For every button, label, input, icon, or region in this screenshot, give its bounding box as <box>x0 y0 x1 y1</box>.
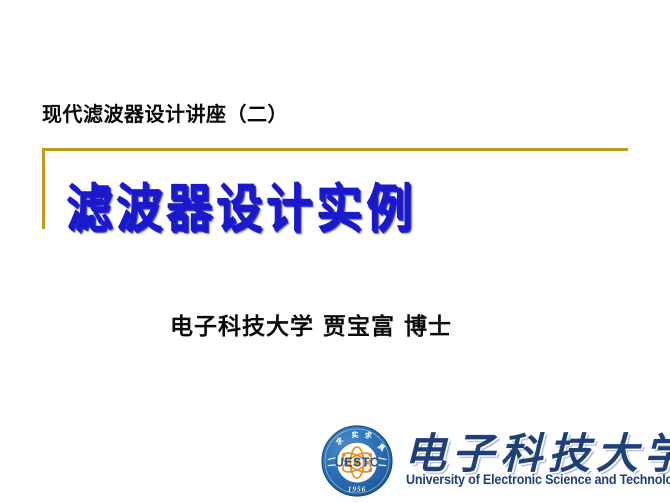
gold-rule-vertical <box>42 148 45 229</box>
slide-canvas: 现代滤波器设计讲座（二） 滤波器设计实例 电子科技大学 贾宝富 博士 <box>0 0 670 503</box>
uestc-logo: UESTC 求 实 求 真 1956 电子科技大学 University of … <box>318 418 662 502</box>
author-line: 电子科技大学 贾宝富 博士 <box>170 307 452 341</box>
svg-text:UESTC: UESTC <box>335 455 379 469</box>
svg-text:实: 实 <box>352 430 359 439</box>
uestc-seal-icon: UESTC 求 实 求 真 1956 <box>318 422 396 500</box>
slide-title: 滤波器设计实例 <box>66 168 416 242</box>
svg-text:1956: 1956 <box>348 484 367 493</box>
svg-text:求: 求 <box>365 431 373 440</box>
gold-rule-horizontal <box>42 148 628 151</box>
slide-subtitle: 现代滤波器设计讲座（二） <box>42 98 288 127</box>
logo-name-english: University of Electronic Science and Tec… <box>406 472 670 487</box>
